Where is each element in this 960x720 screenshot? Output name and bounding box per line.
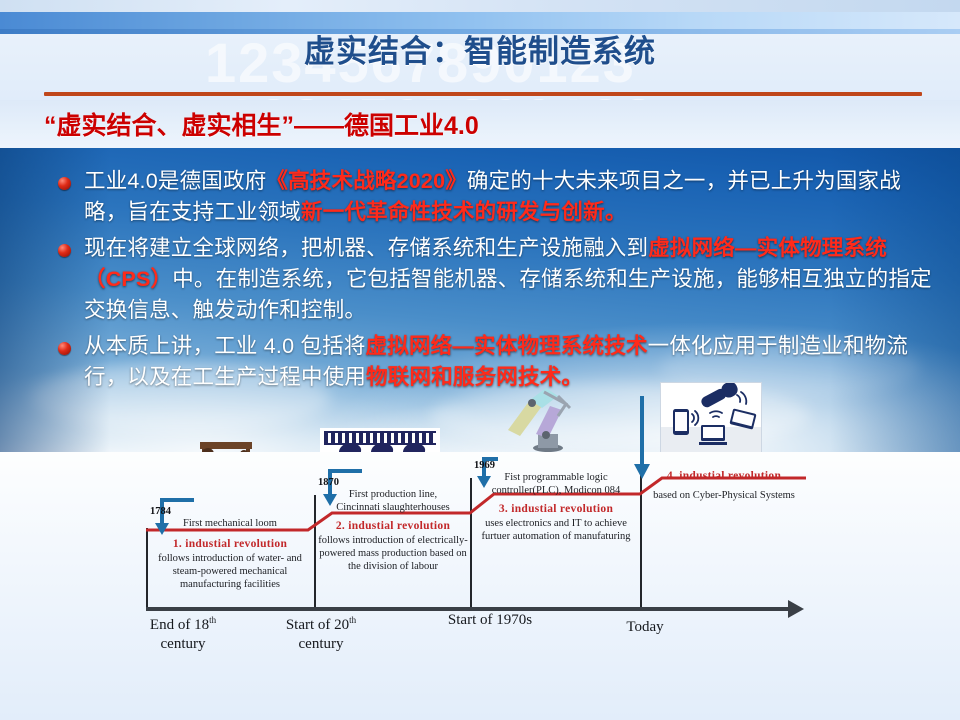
bullet-text-2: 现在将建立全球网络，把机器、存储系统和生产设施融入到虚拟网络—实体物理系统（CP… bbox=[84, 233, 934, 326]
timeline-title-2: 2. industial revolution bbox=[318, 520, 468, 532]
bullet-text-1: 工业4.0是德国政府《高技术战略2020》确定的十大未来项目之一，并已上升为国家… bbox=[84, 166, 934, 228]
timeline-year-2: 1870 bbox=[318, 477, 468, 488]
bullet-span-white: 工业4.0是德国政府 bbox=[84, 169, 266, 193]
timeline-body-1: follows introduction of water- and steam… bbox=[150, 552, 310, 591]
timeline-caption-1: First mechanical loom bbox=[150, 517, 310, 530]
timeline-column-3: 1969 Fist programmable logic controller(… bbox=[474, 460, 638, 543]
axis-tick-label-1: End of 18th century bbox=[128, 611, 238, 654]
slide-subtitle: “虚实结合、虚实相生”——德国工业4.0 bbox=[44, 106, 479, 142]
bullet-span-red: 虚拟网络—实体物理系统技术 bbox=[366, 334, 648, 358]
timeline-year-1: 1784 bbox=[150, 506, 310, 517]
timeline-title-3: 3. industial revolution bbox=[474, 503, 638, 515]
timeline-title-4: 4. industial revolution bbox=[644, 470, 804, 482]
list-item: 现在将建立全球网络，把机器、存储系统和生产设施融入到虚拟网络—实体物理系统（CP… bbox=[58, 233, 934, 326]
axis-tick-label-2: Start of 20th century bbox=[266, 611, 376, 654]
timeline-body-3: uses electronics and IT to achieve furtu… bbox=[474, 517, 638, 543]
axis-tick-text2: century bbox=[161, 636, 206, 652]
timeline-column-2: 1870 First production line, Cincinnati s… bbox=[318, 477, 468, 573]
bullet-list: 工业4.0是德国政府《高技术战略2020》确定的十大未来项目之一，并已上升为国家… bbox=[58, 166, 934, 398]
timeline-column-4: 4. industial revolution based on Cyber-P… bbox=[644, 470, 804, 502]
timeline-caption-2: First production line, Cincinnati slaugh… bbox=[318, 488, 468, 514]
bullet-span-red: 新一代革命性技术的研发与创新。 bbox=[301, 200, 627, 224]
list-item: 从本质上讲，工业 4.0 包括将虚拟网络—实体物理系统技术一体化应用于制造业和物… bbox=[58, 331, 934, 393]
bullet-text-3: 从本质上讲，工业 4.0 包括将虚拟网络—实体物理系统技术一体化应用于制造业和物… bbox=[84, 331, 934, 393]
timeline-year-3: 1969 bbox=[474, 460, 638, 471]
iot-devices-icon bbox=[661, 383, 761, 455]
list-item: 工业4.0是德国政府《高技术战略2020》确定的十大未来项目之一，并已上升为国家… bbox=[58, 166, 934, 228]
bullet-dot-icon bbox=[58, 177, 71, 190]
bullet-dot-icon bbox=[58, 244, 71, 257]
bullet-dot-icon bbox=[58, 342, 71, 355]
timeline-body-2: follows introduction of electrically-pow… bbox=[318, 534, 468, 573]
timeline-title-1: 1. industial revolution bbox=[150, 538, 310, 550]
axis-tick-text: Start of 20 bbox=[286, 617, 349, 633]
axis-tick-sup: th bbox=[349, 615, 356, 625]
top-strip bbox=[0, 0, 960, 12]
timeline-axis-arrow-icon bbox=[788, 600, 804, 618]
robot-arm-icon bbox=[500, 386, 584, 452]
robot-arm-photo bbox=[500, 386, 584, 452]
title-divider bbox=[44, 92, 922, 96]
axis-tick-label-3: Start of 1970s bbox=[420, 611, 560, 630]
iot-devices-photo bbox=[660, 382, 762, 456]
slide-canvas: 1234567890123 1234567890123 虚实结合：智能制造系统 … bbox=[0, 0, 960, 720]
bullet-span-white: 从本质上讲，工业 4.0 包括将 bbox=[84, 334, 366, 358]
axis-tick-text: Start of 1970s bbox=[448, 612, 532, 628]
timeline-column-1: 1784 First mechanical loom 1. industial … bbox=[150, 506, 310, 591]
bullet-span-white: 现在将建立全球网络，把机器、存储系统和生产设施融入到 bbox=[84, 236, 648, 260]
page-title: 虚实结合：智能制造系统 bbox=[0, 26, 960, 71]
axis-tick-text2: century bbox=[299, 636, 344, 652]
axis-tick-text: End of 18 bbox=[150, 617, 209, 633]
timeline-body-4: based on Cyber-Physical Systems bbox=[644, 489, 804, 502]
axis-tick-text: Today bbox=[626, 619, 663, 635]
axis-tick-sup: th bbox=[209, 615, 216, 625]
bullet-span-white: 中。在制造系统，它包括智能机器、存储系统和生产设施，能够相互独立的指定交换信息、… bbox=[84, 267, 932, 322]
timeline-caption-3: Fist programmable logic controller(PLC),… bbox=[474, 471, 638, 497]
bullet-span-red: 《高技术战略2020》 bbox=[266, 169, 467, 193]
axis-tick-label-4: Today bbox=[600, 618, 690, 637]
